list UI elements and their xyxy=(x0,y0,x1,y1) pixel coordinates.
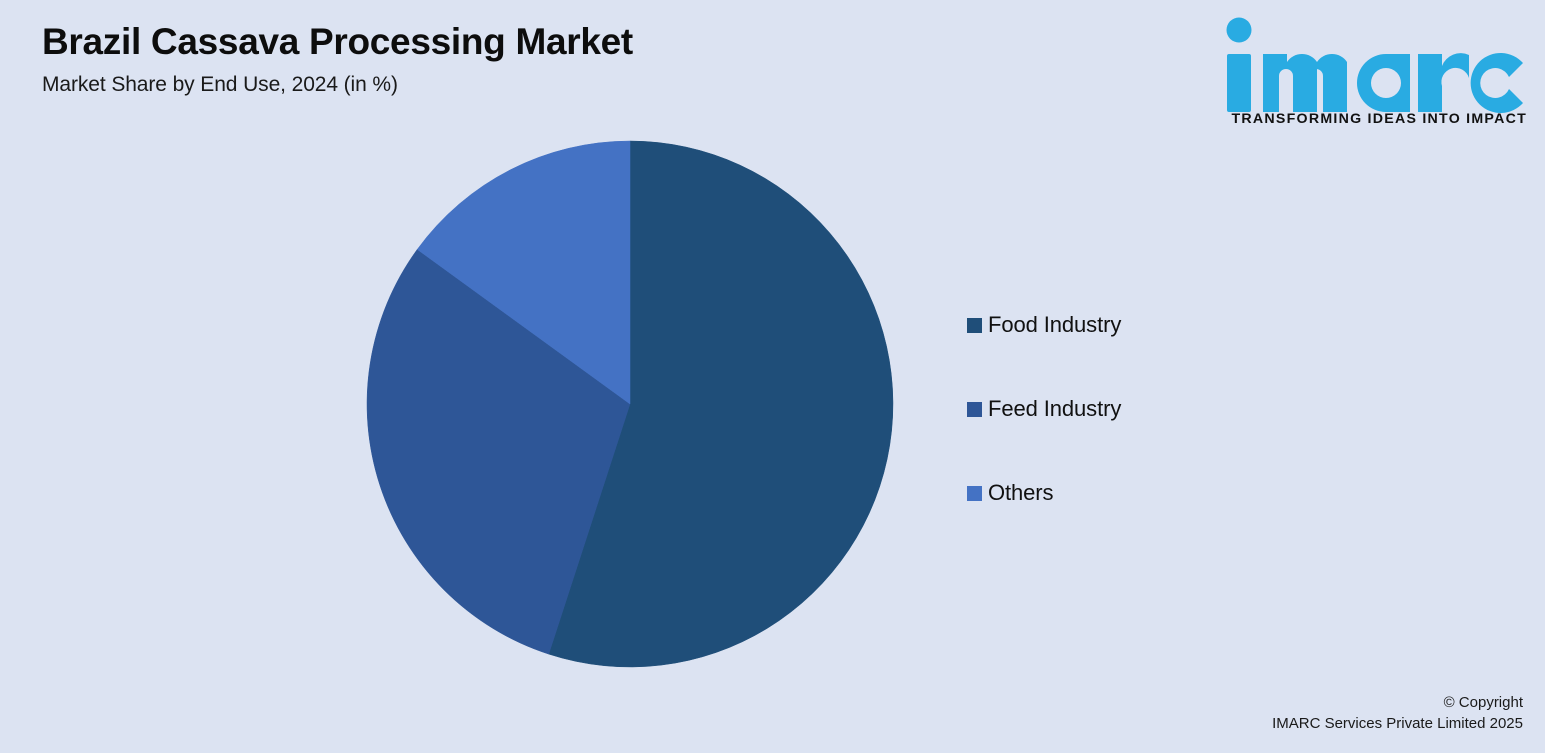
page-title: Brazil Cassava Processing Market xyxy=(42,22,942,63)
legend-item-food-industry[interactable]: Food Industry xyxy=(967,303,1287,347)
legend-item-label: Others xyxy=(988,482,1053,504)
chart-legend: Food Industry Feed Industry Others xyxy=(967,303,1287,515)
logo-tagline: TRANSFORMING IDEAS INTO IMPACT xyxy=(1217,111,1527,127)
pie-chart xyxy=(367,141,893,667)
chart-subtitle: Market Share by End Use, 2024 (in %) xyxy=(42,73,942,97)
imarc-wordmark-icon xyxy=(1217,16,1527,114)
legend-swatch-icon xyxy=(967,402,982,417)
copyright-line-2: IMARC Services Private Limited 2025 xyxy=(1272,713,1523,735)
copyright-line-1: © Copyright xyxy=(1272,692,1523,714)
legend-item-label: Food Industry xyxy=(988,314,1121,336)
imarc-logo: TRANSFORMING IDEAS INTO IMPACT xyxy=(1217,16,1527,127)
pie-chart-svg xyxy=(367,141,893,667)
logo-dot-icon xyxy=(1227,18,1252,43)
pie-slice-group xyxy=(367,141,893,667)
legend-swatch-icon xyxy=(967,318,982,333)
header: Brazil Cassava Processing Market Market … xyxy=(42,22,942,97)
legend-swatch-icon xyxy=(967,486,982,501)
legend-item-feed-industry[interactable]: Feed Industry xyxy=(967,387,1287,431)
legend-item-others[interactable]: Others xyxy=(967,471,1287,515)
legend-item-label: Feed Industry xyxy=(988,398,1121,420)
copyright-footer: © Copyright IMARC Services Private Limit… xyxy=(1272,692,1523,736)
